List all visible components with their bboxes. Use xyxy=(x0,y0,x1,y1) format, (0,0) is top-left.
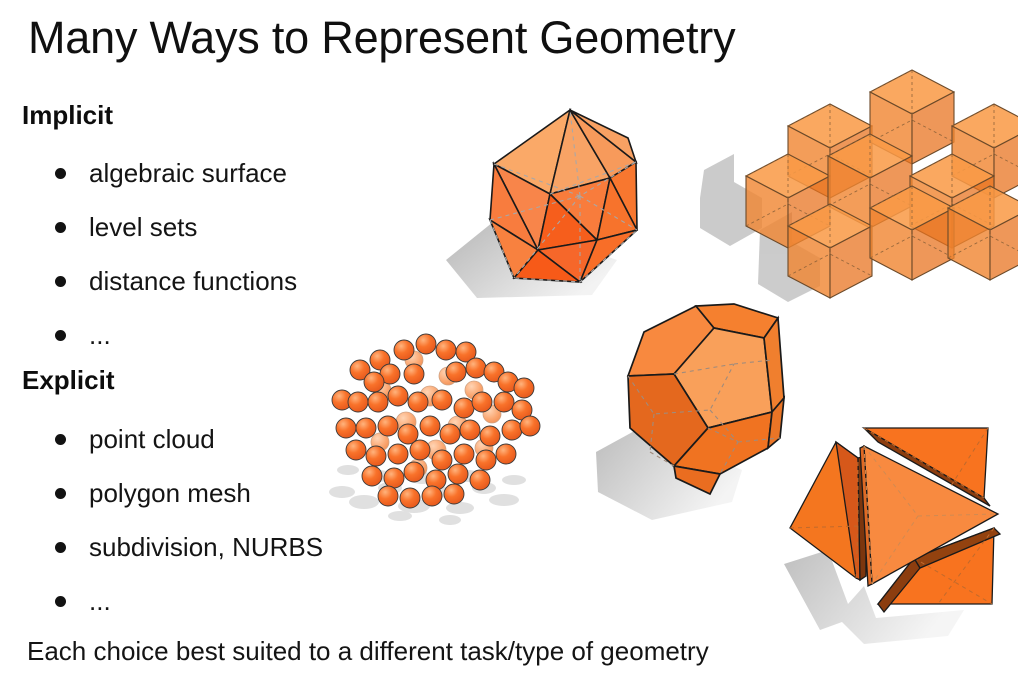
bullet-dot-icon xyxy=(55,596,66,607)
bullet-dot-icon xyxy=(55,434,66,445)
list-item: polygon mesh xyxy=(55,478,251,508)
voxel-grid-figure xyxy=(700,78,1018,303)
list-item: level sets xyxy=(55,212,197,242)
list-item-label: distance functions xyxy=(89,266,297,297)
page-title: Many Ways to Represent Geometry xyxy=(28,12,735,64)
list-item: point cloud xyxy=(55,424,215,454)
list-item-label: ... xyxy=(89,586,111,617)
list-item: ... xyxy=(55,586,111,616)
slide-canvas: Many Ways to Represent Geometry Implicit… xyxy=(0,0,1018,689)
list-item: subdivision, NURBS xyxy=(55,532,323,562)
list-item-label: level sets xyxy=(89,212,197,243)
list-item: distance functions xyxy=(55,266,297,296)
bullet-dot-icon xyxy=(55,222,66,233)
list-item: algebraic surface xyxy=(55,158,287,188)
list-item-label: point cloud xyxy=(89,424,215,455)
list-item-label: subdivision, NURBS xyxy=(89,532,323,563)
list-item: ... xyxy=(55,320,111,350)
list-item-label: ... xyxy=(89,320,111,351)
footer-text: Each choice best suited to a different t… xyxy=(27,636,709,667)
bullet-dot-icon xyxy=(55,330,66,341)
list-item-label: polygon mesh xyxy=(89,478,251,509)
bullet-dot-icon xyxy=(55,276,66,287)
point-cloud-figure xyxy=(318,330,573,530)
list-item-label: algebraic surface xyxy=(89,158,287,189)
icosahedron-figure xyxy=(432,90,682,310)
bullet-dot-icon xyxy=(55,168,66,179)
bullet-dot-icon xyxy=(55,542,66,553)
exploded-tetrahedra-figure xyxy=(768,398,1018,650)
section-heading-implicit: Implicit xyxy=(22,100,113,131)
bullet-dot-icon xyxy=(55,488,66,499)
section-heading-explicit: Explicit xyxy=(22,365,114,396)
